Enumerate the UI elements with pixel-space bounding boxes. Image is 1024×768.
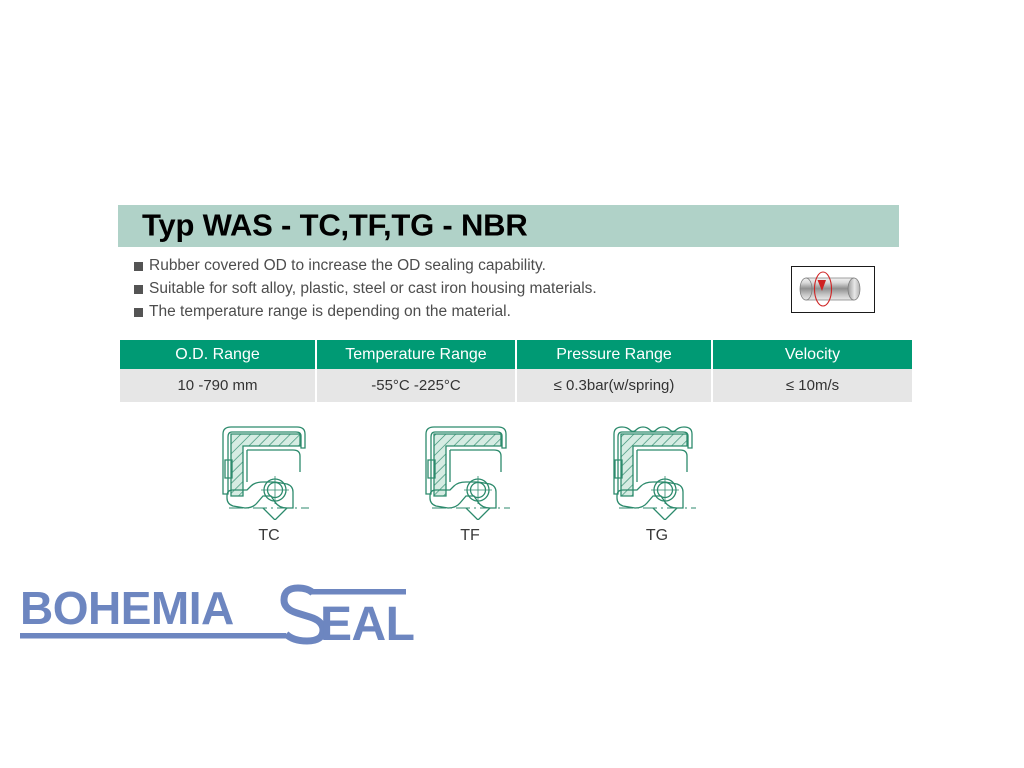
cell-velocity: ≤ 10m/s	[713, 369, 912, 402]
column-header-velocity: Velocity	[713, 340, 912, 369]
table-header-row: O.D. Range Temperature Range Pressure Ra…	[120, 340, 912, 369]
seal-figure-tf: TF	[410, 420, 530, 545]
cell-od-range: 10 -790 mm	[120, 369, 315, 402]
seal-figure-tg: TG	[598, 420, 716, 545]
list-item: Suitable for soft alloy, plastic, steel …	[134, 279, 774, 299]
column-header-temperature: Temperature Range	[317, 340, 515, 369]
logo-text-bohemia: BOHEMIA	[20, 582, 234, 634]
feature-text: Suitable for soft alloy, plastic, steel …	[149, 279, 597, 299]
seal-label-tg: TG	[598, 527, 716, 545]
seal-diagram-tf	[410, 420, 530, 520]
rotating-shaft-icon-box	[791, 266, 875, 313]
cell-pressure: ≤ 0.3bar(w/spring)	[517, 369, 711, 402]
feature-text: The temperature range is depending on th…	[149, 302, 511, 322]
square-bullet-icon	[134, 262, 143, 271]
list-item: Rubber covered OD to increase the OD sea…	[134, 256, 774, 276]
seal-diagram-tg	[598, 420, 716, 520]
seal-figure-tc: TC	[205, 420, 333, 545]
column-header-od-range: O.D. Range	[120, 340, 315, 369]
company-logo: BOHEMIA EAL	[14, 578, 414, 650]
seal-label-tc: TC	[205, 527, 333, 545]
list-item: The temperature range is depending on th…	[134, 302, 774, 322]
spec-table: O.D. Range Temperature Range Pressure Ra…	[118, 340, 914, 402]
square-bullet-icon	[134, 285, 143, 294]
rotating-shaft-icon	[792, 267, 873, 311]
cell-temperature: -55°C -225°C	[317, 369, 515, 402]
column-header-pressure: Pressure Range	[517, 340, 711, 369]
feature-list: Rubber covered OD to increase the OD sea…	[134, 256, 774, 325]
seal-diagram-tc	[205, 420, 333, 520]
logo-text-eal: EAL	[320, 598, 414, 650]
page-title: Typ WAS - TC,TF,TG - NBR	[142, 207, 528, 243]
seal-label-tf: TF	[410, 527, 530, 545]
bohemia-seal-logo-icon: BOHEMIA EAL	[14, 578, 414, 650]
table-row: 10 -790 mm -55°C -225°C ≤ 0.3bar(w/sprin…	[120, 369, 912, 402]
feature-text: Rubber covered OD to increase the OD sea…	[149, 256, 546, 276]
title-banner: Typ WAS - TC,TF,TG - NBR	[118, 205, 899, 247]
square-bullet-icon	[134, 308, 143, 317]
